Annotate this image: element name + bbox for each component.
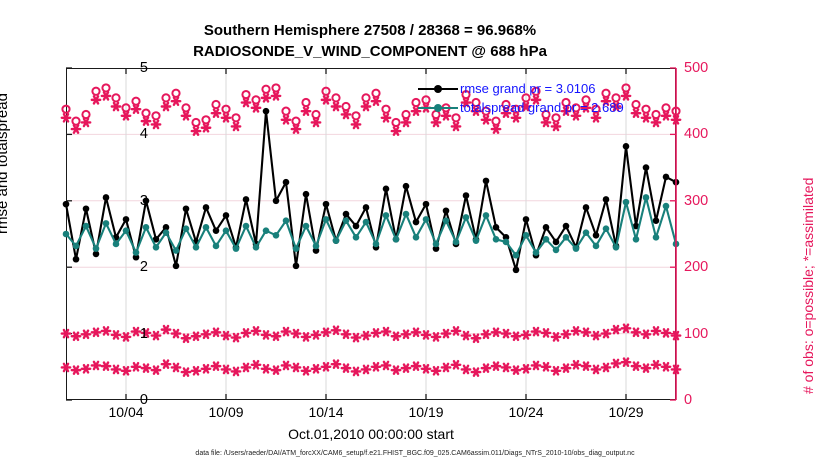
x-axis-caption: Oct.01,2010 00:00:00 start xyxy=(66,426,676,442)
legend-swatch-totalspread xyxy=(418,102,458,114)
x-axis-tick-label: 10/24 xyxy=(508,404,543,420)
y-axis-left-tick-label: 4 xyxy=(108,126,148,142)
legend-swatch-rmse xyxy=(418,83,458,95)
y-axis-left-title: rmse and totalspread xyxy=(0,93,11,234)
chart-page: Southern Hemisphere 27508 / 28368 = 96.9… xyxy=(0,0,830,470)
legend-item-totalspread[interactable]: totalspread grand pr = 2.689 xyxy=(418,98,624,117)
x-axis-tick-label: 10/19 xyxy=(408,404,443,420)
legend-label-totalspread: totalspread grand pr = 2.689 xyxy=(460,98,624,117)
y-axis-left-tick-label: 2 xyxy=(108,259,148,275)
y-axis-left-tick-label: 1 xyxy=(108,326,148,342)
chart-legend: rmse grand pr = 3.0106 totalspread grand… xyxy=(418,79,624,117)
x-axis-tick-label: 10/09 xyxy=(208,404,243,420)
y-axis-right-tick-label: 300 xyxy=(684,193,734,209)
y-axis-left-tick-label: 5 xyxy=(108,60,148,76)
y-axis-right-tick-label: 500 xyxy=(684,60,734,76)
y-axis-right-tick-label: 0 xyxy=(684,392,734,408)
y-axis-right-tick-label: 200 xyxy=(684,259,734,275)
legend-item-rmse[interactable]: rmse grand pr = 3.0106 xyxy=(418,79,624,98)
x-axis-tick-label: 10/14 xyxy=(308,404,343,420)
y-axis-right-tick-label: 400 xyxy=(684,126,734,142)
x-axis-tick-label: 10/04 xyxy=(108,404,143,420)
data-file-footer: data file: /Users/raeder/DAI/ATM_forcXX/… xyxy=(0,450,830,457)
obs-marker-series xyxy=(62,325,680,342)
x-axis-tick-label: 10/29 xyxy=(608,404,643,420)
y-axis-right-title: # of obs: o=possible; *=assimilated xyxy=(800,178,816,394)
legend-label-rmse: rmse grand pr = 3.0106 xyxy=(460,79,596,98)
y-axis-right-tick-label: 100 xyxy=(684,326,734,342)
y-axis-left-tick-label: 3 xyxy=(108,193,148,209)
obs-marker-series xyxy=(62,359,680,376)
